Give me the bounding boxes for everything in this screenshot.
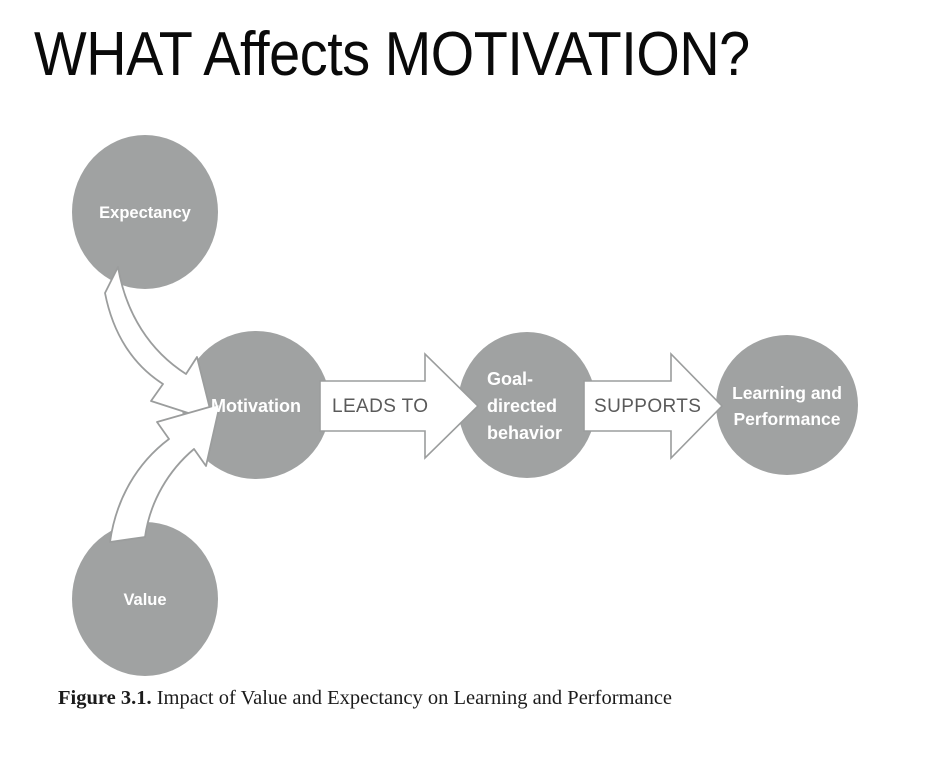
- goal-directed-behavior-label-line-1: Goal-: [487, 369, 533, 389]
- figure-caption-number: Figure 3.1.: [58, 687, 152, 709]
- learning-and-performance-label-line-1: Learning and: [732, 383, 842, 403]
- node-expectancy[interactable]: Expectancy: [72, 135, 218, 289]
- value-arrow-shape: [110, 404, 220, 542]
- connector-expectancy-to-motivation[interactable]: [105, 267, 213, 421]
- supports-label: SUPPORTS: [594, 396, 701, 417]
- leads-to-label: LEADS TO: [332, 396, 428, 417]
- figure-diagram: Expectancy Value LEADS TO: [0, 118, 929, 678]
- expectancy-label: Expectancy: [99, 204, 192, 222]
- value-label: Value: [123, 591, 166, 609]
- figure-caption: Figure 3.1. Impact of Value and Expectan…: [58, 683, 798, 715]
- motivation-label: Motivation: [211, 396, 301, 416]
- expectancy-arrow-shape: [105, 267, 213, 421]
- goal-directed-behavior-label-line-3: behavior: [487, 423, 562, 443]
- goal-directed-behavior-label-line-2: directed: [487, 396, 557, 416]
- learning-and-performance-label-line-2: Performance: [734, 409, 841, 429]
- slide-title: WHAT Affects MOTIVATION?: [34, 22, 808, 89]
- connector-value-to-motivation[interactable]: [110, 404, 220, 542]
- connector-motivation-to-goal[interactable]: LEADS TO: [320, 354, 478, 458]
- node-learning-and-performance[interactable]: [716, 335, 858, 475]
- diagram-svg: Expectancy Value LEADS TO: [0, 118, 929, 678]
- connector-goal-to-learning[interactable]: SUPPORTS: [584, 354, 722, 458]
- figure-caption-text: Impact of Value and Expectancy on Learni…: [157, 687, 672, 709]
- node-value[interactable]: Value: [72, 522, 218, 676]
- learning-and-performance-ellipse: [716, 335, 858, 475]
- slide-canvas: WHAT Affects MOTIVATION? Expectancy Valu…: [0, 0, 929, 772]
